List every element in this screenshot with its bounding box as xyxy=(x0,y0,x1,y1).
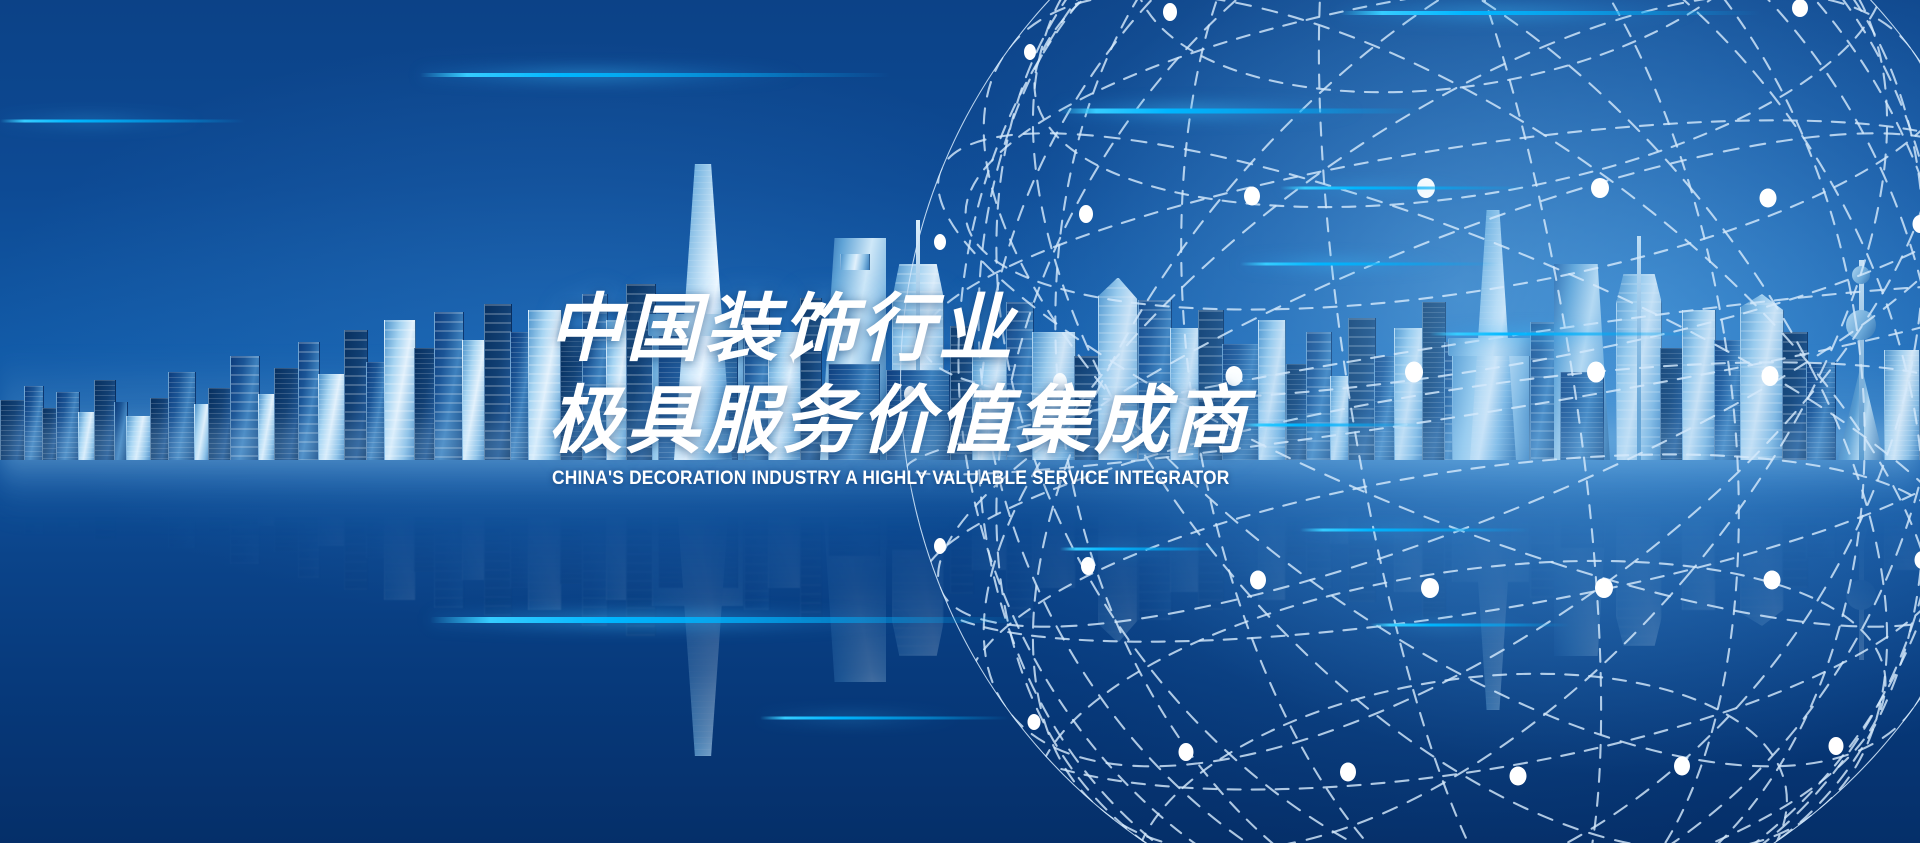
headline-line-2: 极具服务价值集成商 xyxy=(548,375,1250,467)
city-skyline-reflection xyxy=(0,460,1920,780)
hero-banner: 中国装饰行业 极具服务价值集成商 CHINA'S DECORATION INDU… xyxy=(0,0,1920,843)
headline-block: 中国装饰行业 极具服务价值集成商 xyxy=(548,283,1250,467)
subtitle-text: CHINA'S DECORATION INDUSTRY A HIGHLY VAL… xyxy=(552,468,1230,490)
headline-line-1: 中国装饰行业 xyxy=(548,283,1250,375)
